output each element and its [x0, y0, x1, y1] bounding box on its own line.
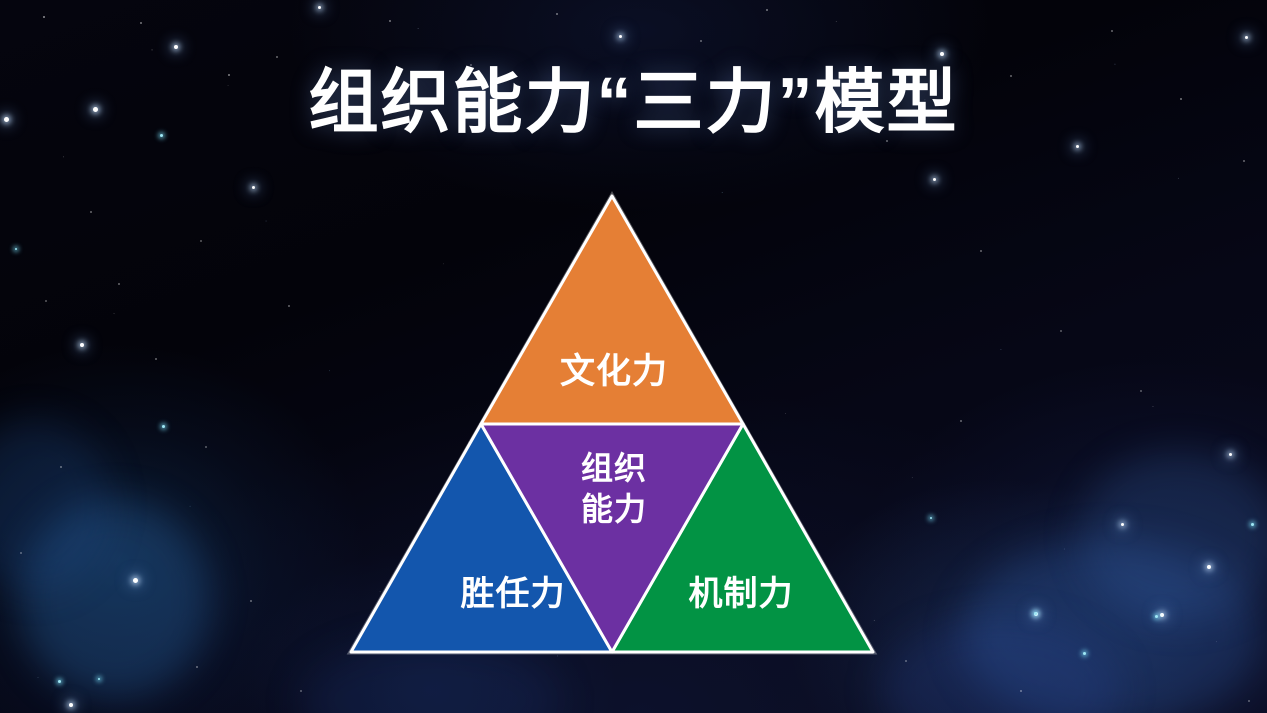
pyramid-segment-top[interactable] [481, 196, 743, 424]
slide-title: 组织能力“三力”模型 [0, 62, 1267, 142]
pyramid-diagram: 文化力 组织 能力 胜任力 机制力 [340, 185, 888, 665]
slide-canvas: 组织能力“三力”模型 文化力 组织 能力 胜任力 机制力 [0, 0, 1267, 713]
pyramid-svg [340, 185, 888, 665]
